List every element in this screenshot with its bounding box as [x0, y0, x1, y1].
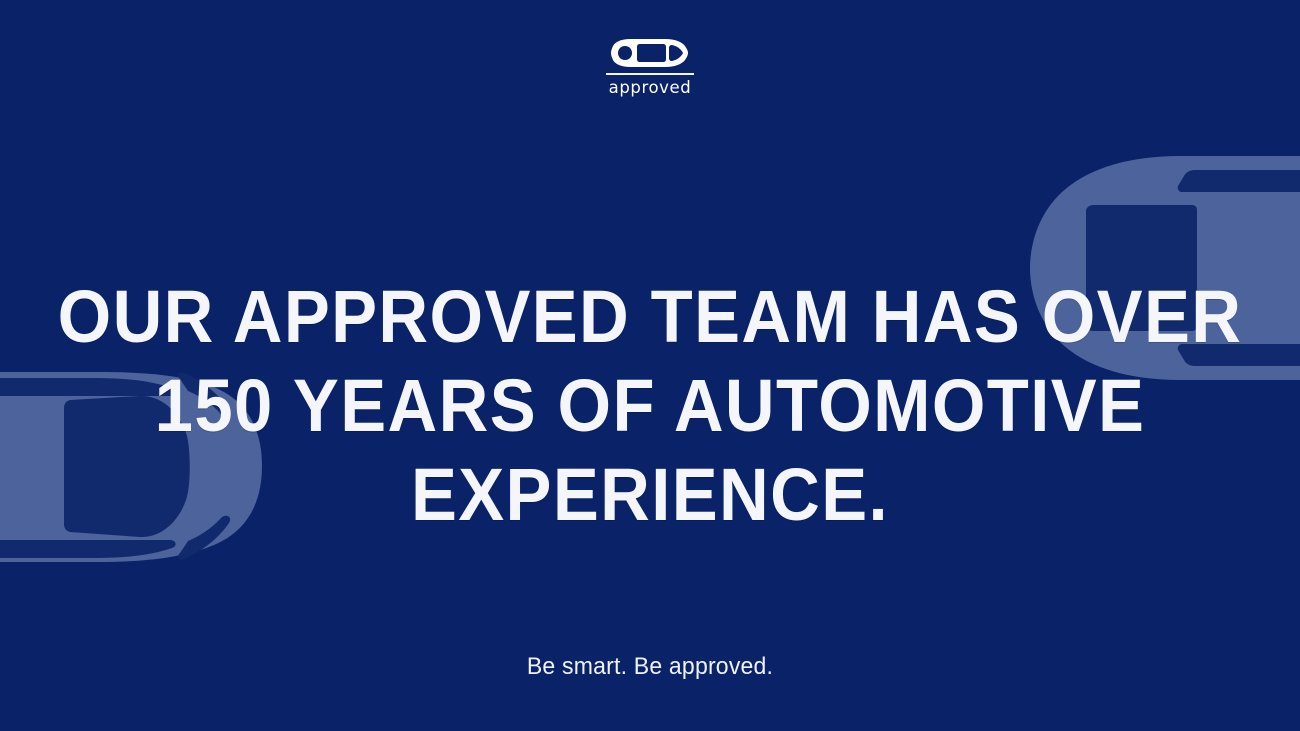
- headline-line-2: 150 YEARS OF AUTOMOTIVE: [46, 361, 1255, 450]
- logo-divider: [606, 73, 694, 75]
- car-top-view-icon: [611, 38, 689, 68]
- headline-line-1: OUR APPROVED TEAM HAS OVER: [46, 272, 1255, 361]
- page-title: OUR APPROVED TEAM HAS OVER 150 YEARS OF …: [46, 272, 1255, 539]
- headline-line-3: EXPERIENCE.: [46, 450, 1255, 539]
- logo-wordmark: approved: [609, 79, 692, 97]
- brand-tagline: Be smart. Be approved.: [26, 653, 1274, 681]
- brand-logo: approved: [0, 38, 1300, 97]
- slide-canvas: approved OUR APPROVED TEAM HAS OVER 150 …: [0, 0, 1300, 731]
